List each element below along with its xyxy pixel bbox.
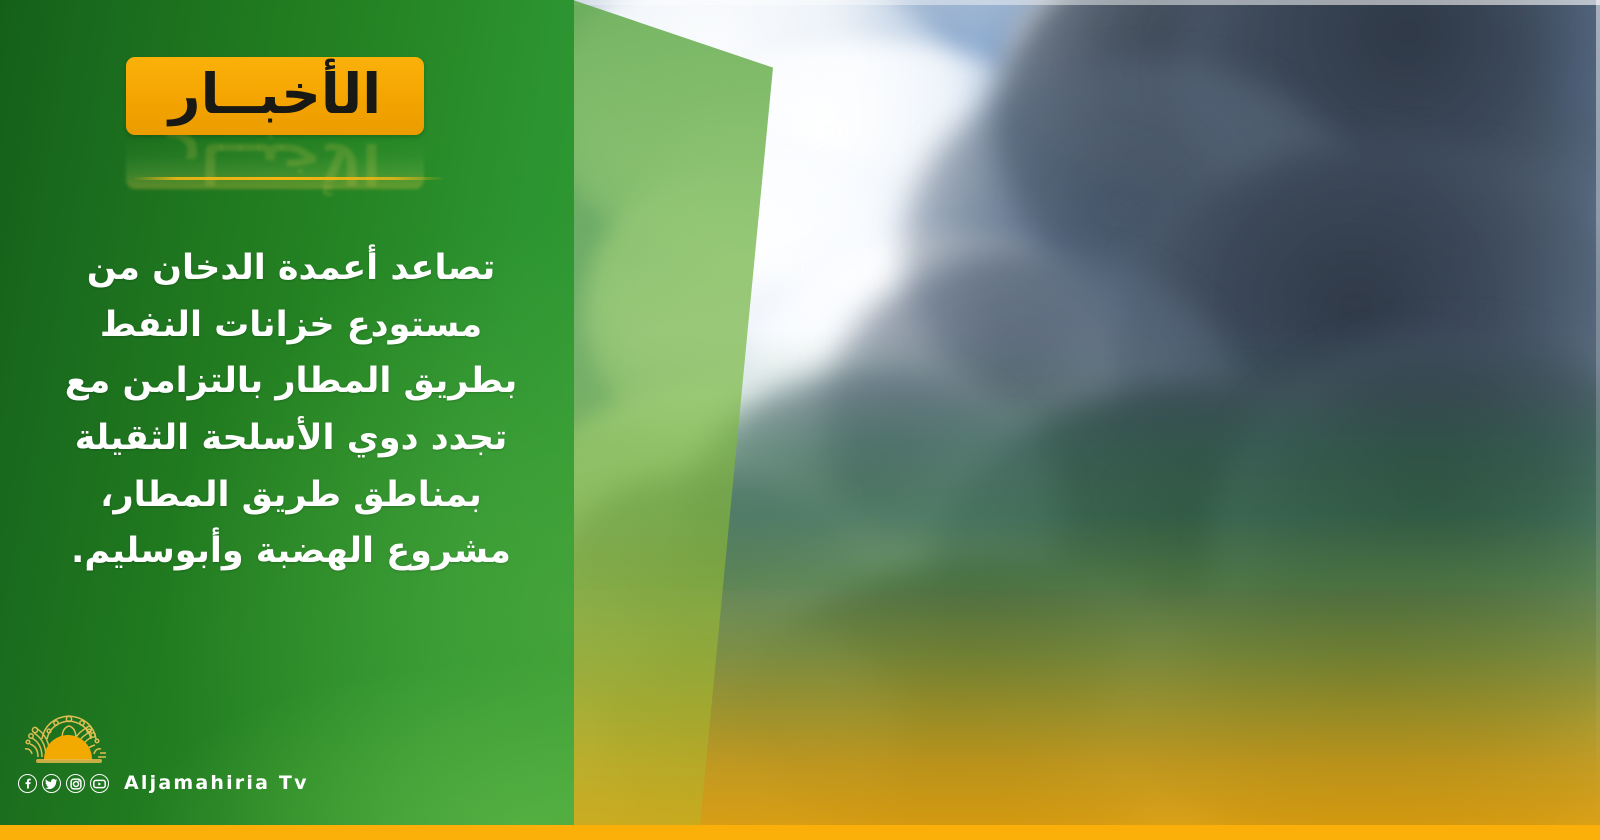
photo-right-edge [1596, 0, 1600, 825]
badge-reflection-text: الأخبــار [126, 137, 424, 189]
facebook-icon[interactable] [18, 774, 37, 793]
instagram-icon[interactable] [66, 774, 85, 793]
badge-reflection: الأخبــار [126, 137, 424, 189]
badge-plate: الأخبــار [126, 57, 424, 135]
social-links: Aljamahiria Tv [18, 774, 309, 793]
youtube-icon[interactable] [90, 774, 109, 793]
bottom-accent-bar [0, 825, 1600, 840]
headline-text: تصاعد أعمدة الدخان من مستودع خزانات النف… [56, 240, 526, 580]
news-badge: الأخبــار الأخبــار [126, 57, 424, 135]
gold-divider [133, 177, 445, 180]
badge-label: الأخبــار [169, 67, 381, 122]
twitter-icon[interactable] [42, 774, 61, 793]
news-graphic: الأخبــار الأخبــار تصاعد أعمدة الدخان م… [0, 0, 1600, 840]
sidebar-panel: الأخبــار الأخبــار تصاعد أعمدة الدخان م… [0, 0, 574, 825]
dome-logo-icon [22, 714, 114, 760]
brand-name: Aljamahiria Tv [124, 774, 309, 793]
dome-base [36, 759, 102, 763]
photo-top-edge [573, 0, 1600, 5]
